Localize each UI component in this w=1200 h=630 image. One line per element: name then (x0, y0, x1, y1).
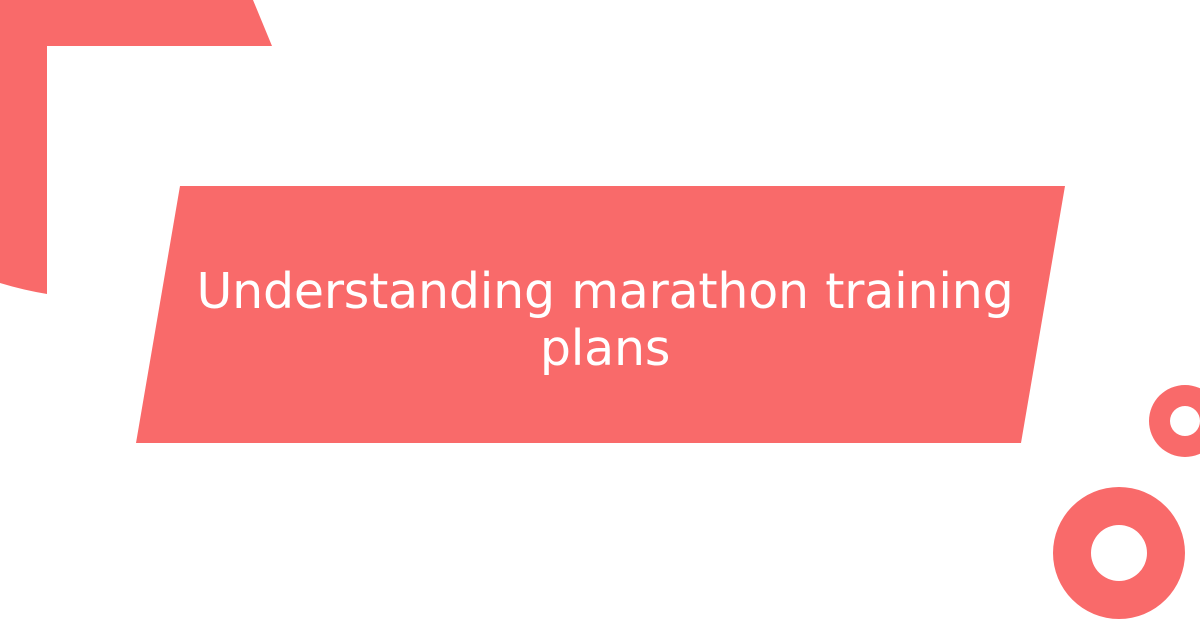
decorative-artwork (0, 0, 1200, 630)
social-card-canvas: Understanding marathon training plans (0, 0, 1200, 630)
small-ring-shape (1149, 385, 1200, 457)
large-ring-shape (1053, 487, 1185, 619)
title-banner-shape (136, 186, 1065, 443)
